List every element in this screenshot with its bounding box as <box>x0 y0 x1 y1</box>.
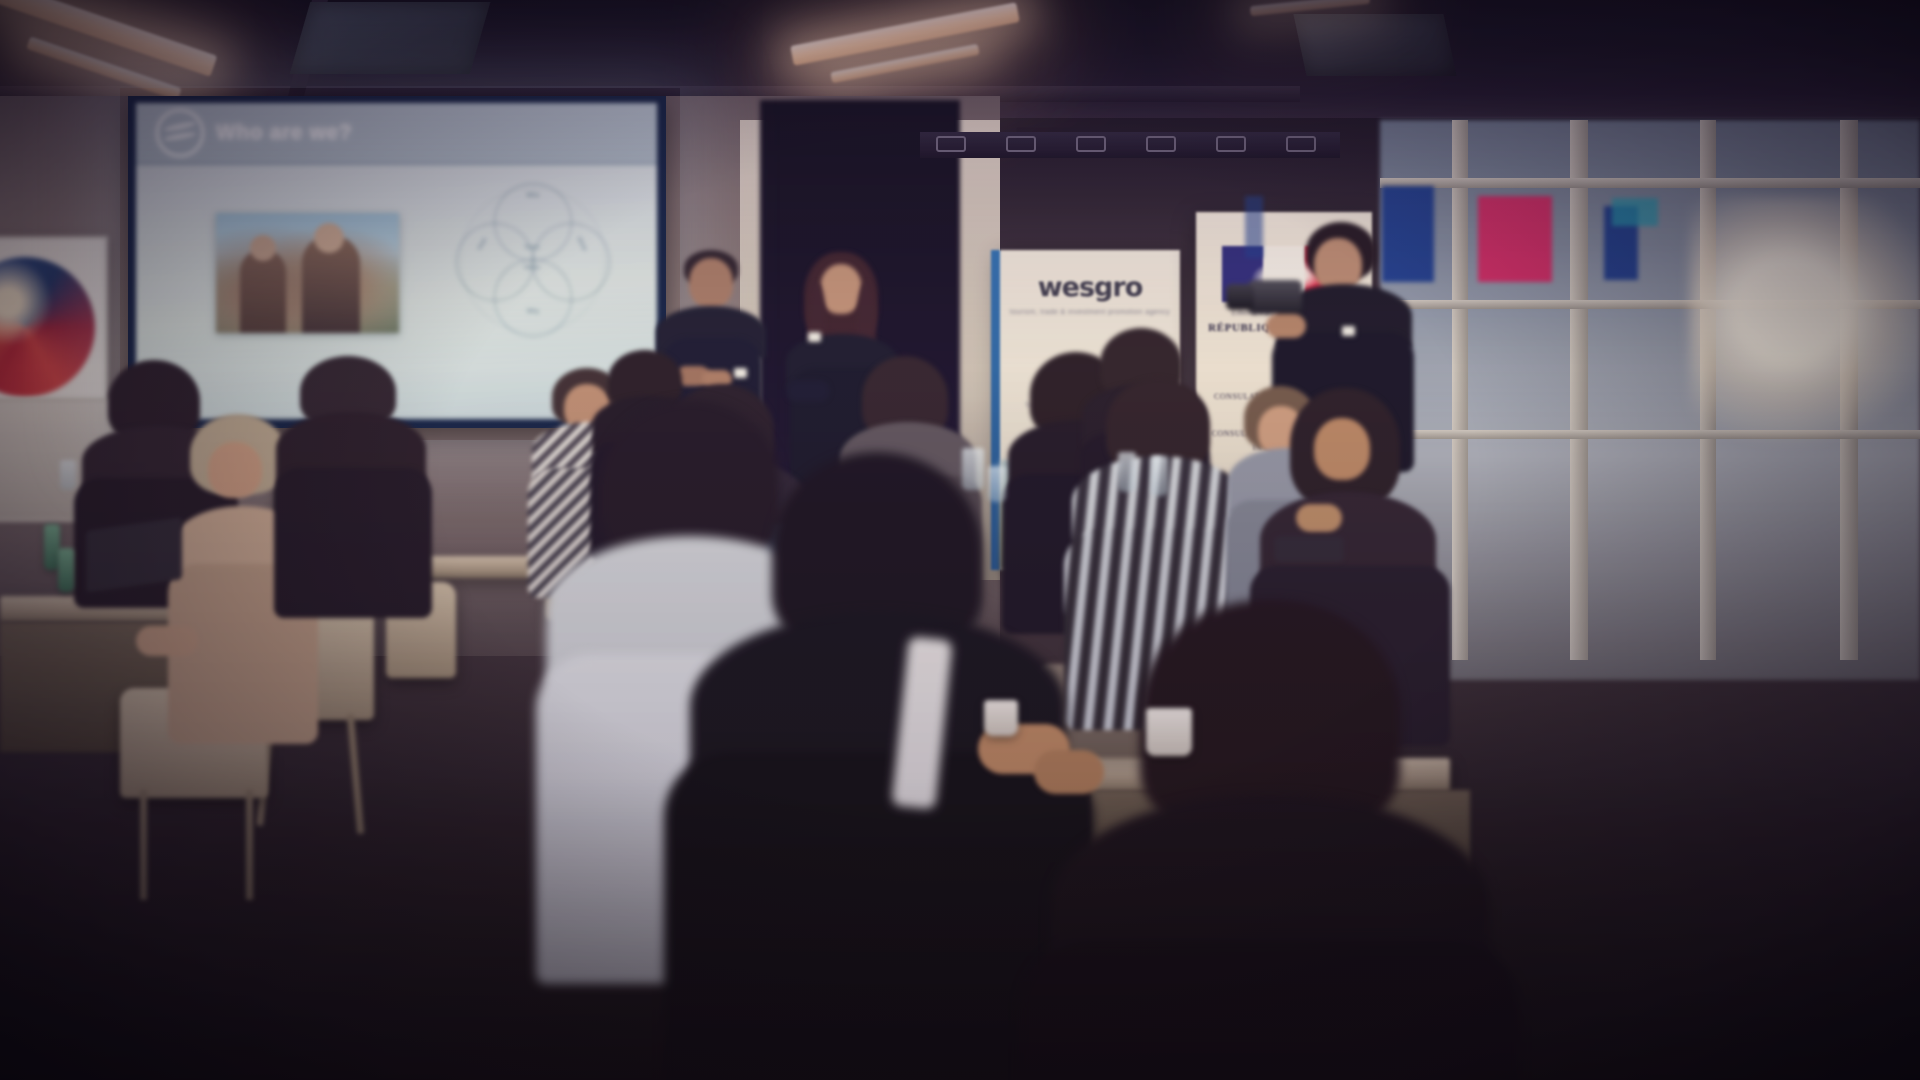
window-poster <box>1612 198 1658 226</box>
venn-label: Why <box>512 309 554 316</box>
curtain-hook <box>1076 136 1106 152</box>
wesgro-subtitle: tourism, trade & investment promotion ag… <box>1000 308 1180 319</box>
curtain-hook <box>1216 136 1246 152</box>
wave-circle-icon <box>156 109 204 157</box>
wesgro-logo-text: wesgro <box>1000 272 1180 303</box>
ceiling-vent <box>290 2 491 74</box>
photo-scene: Who are we? Who How What Why Team Value … <box>0 0 1920 1080</box>
window-transom <box>1380 178 1920 188</box>
curtain-hook <box>1146 136 1176 152</box>
ceiling-vent <box>1293 14 1456 76</box>
paper-cup <box>1146 708 1192 756</box>
artwork-orb <box>0 257 95 397</box>
venn-diagram: Who How What Why Team Value <box>456 183 608 335</box>
window-mullion <box>1570 120 1588 660</box>
venn-label: Value <box>500 265 564 272</box>
window-poster <box>1478 196 1552 282</box>
paper-cup <box>984 700 1018 736</box>
bottle <box>58 548 74 592</box>
window-glare <box>1690 196 1920 446</box>
venn-label: Who <box>512 193 554 200</box>
chair-leg <box>140 790 147 900</box>
slide-title: Who are we? <box>216 121 352 145</box>
glass <box>60 460 76 490</box>
device-on-table <box>1274 536 1344 562</box>
window-poster <box>1245 196 1263 258</box>
curtain-hook <box>1006 136 1036 152</box>
glass <box>988 466 1006 502</box>
slide-photo <box>216 213 399 333</box>
chair-leg <box>246 790 253 900</box>
camera-icon <box>1248 280 1302 314</box>
venn-label: Team <box>500 245 564 252</box>
glass <box>1150 456 1168 496</box>
curtain-rail <box>920 132 1340 158</box>
curtain-hook <box>936 136 966 152</box>
window-mullion <box>1452 120 1468 660</box>
window-poster <box>1382 186 1434 282</box>
glass <box>1118 452 1136 492</box>
glass <box>962 448 984 490</box>
artwork-left <box>0 236 108 404</box>
slide-titlebar: Who are we? <box>136 103 657 165</box>
curtain-hook <box>1286 136 1316 152</box>
banner-edge <box>991 250 1000 570</box>
